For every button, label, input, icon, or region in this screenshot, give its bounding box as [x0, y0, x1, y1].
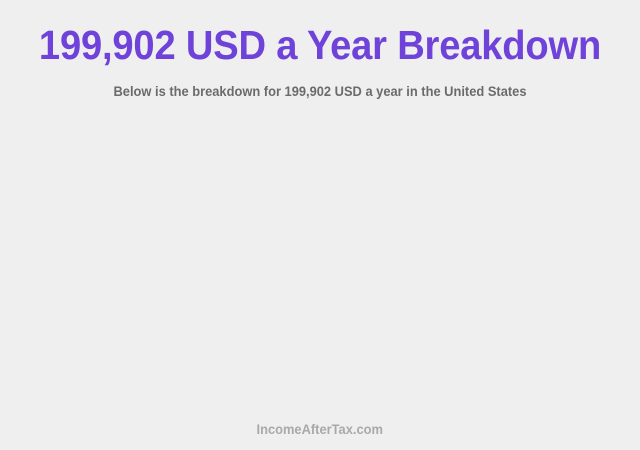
page-header: 199,902 USD a Year Breakdown Below is th…: [0, 0, 640, 100]
page-root: 199,902 USD a Year Breakdown Below is th…: [0, 0, 640, 450]
page-subtitle: Below is the breakdown for 199,902 USD a…: [26, 82, 615, 100]
page-footer: IncomeAfterTax.com: [0, 420, 640, 439]
breakdown-chart-area: [0, 120, 640, 405]
footer-brand-label: IncomeAfterTax.com: [257, 420, 383, 438]
chart-empty-placeholder: [0, 120, 640, 405]
page-title: 199,902 USD a Year Breakdown: [22, 22, 617, 68]
